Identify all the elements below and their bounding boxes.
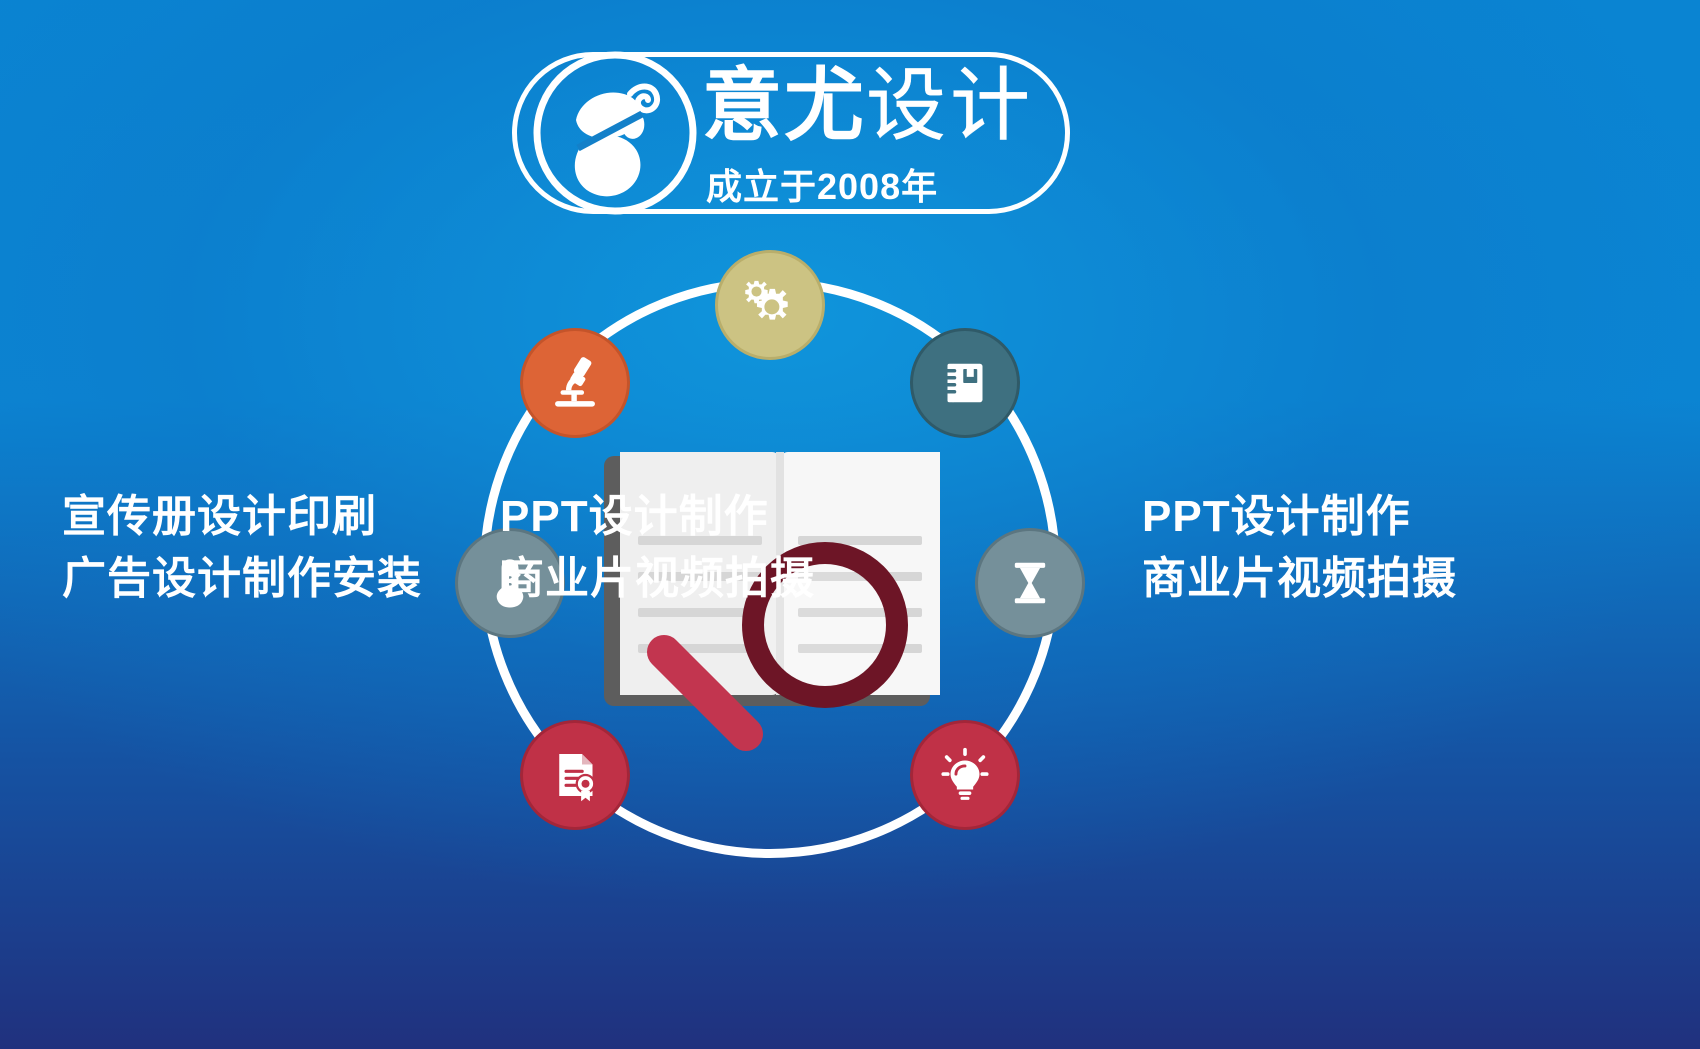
slide-canvas: 意尤设计 成立于2008年	[0, 0, 1700, 1049]
service-middle-line2: 商业片视频拍摄	[500, 548, 815, 610]
node-notebook[interactable]	[910, 328, 1020, 438]
logo-brand-bold: 意尤	[702, 61, 866, 150]
logo-tagline: 成立于2008年	[706, 158, 938, 210]
service-right-line2: 商业片视频拍摄	[1142, 548, 1457, 610]
gears-icon	[740, 275, 800, 335]
logo-brand-thin: 设计	[866, 61, 1034, 150]
hourglass-icon	[1003, 556, 1057, 610]
peacock-bird-icon	[526, 44, 704, 222]
microscope-icon	[546, 354, 604, 412]
brand-logo: 意尤设计 成立于2008年	[512, 52, 1070, 214]
notebook-icon	[937, 355, 993, 411]
node-hourglass[interactable]	[975, 528, 1085, 638]
logo-wordmark: 意尤设计 成立于2008年	[702, 66, 1062, 206]
node-gears[interactable]	[715, 250, 825, 360]
service-left-line2: 广告设计制作安装	[62, 548, 422, 610]
service-text-right: PPT设计制作 商业片视频拍摄	[1142, 486, 1457, 611]
service-text-left: 宣传册设计印刷 广告设计制作安装	[62, 486, 422, 611]
service-left-line1: 宣传册设计印刷	[62, 486, 422, 548]
logo-brand-line: 意尤设计	[702, 66, 1034, 146]
service-right-line1: PPT设计制作	[1142, 486, 1457, 548]
service-text-middle: PPT设计制作 商业片视频拍摄	[500, 486, 815, 611]
node-microscope[interactable]	[520, 328, 630, 438]
service-middle-line1: PPT设计制作	[500, 486, 815, 548]
